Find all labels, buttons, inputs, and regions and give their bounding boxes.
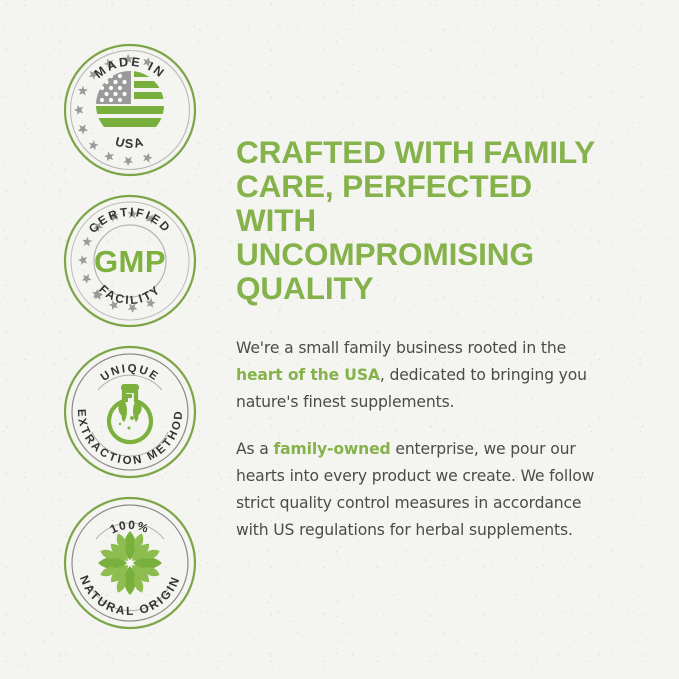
paragraph-2-before: As a xyxy=(236,440,274,458)
headline-line-4: QUALITY xyxy=(236,270,374,306)
headline-line-1: CRAFTED WITH FAMILY xyxy=(236,134,595,170)
paragraph-1-highlight: heart of the USA xyxy=(236,366,380,384)
badge-unique-extraction-method: UNIQUE EXTRACTION METHOD xyxy=(62,344,198,480)
paragraph-1-before: We're a small family business rooted in … xyxy=(236,339,566,357)
body-paragraph-2: As a family-owned enterprise, we pour ou… xyxy=(236,436,616,544)
product-info-panel: MADE IN USA xyxy=(0,0,679,679)
headline-line-3: UNCOMPROMISING xyxy=(236,236,534,272)
flask-leaf-icon xyxy=(109,384,151,442)
badge-bottom-label: EXTRACTION METHOD xyxy=(75,409,185,467)
badge-top-label: CERTIFIED xyxy=(86,205,174,236)
leaf-rosette-icon xyxy=(98,531,162,595)
usa-flag-icon xyxy=(95,70,166,127)
badge-gmp-certified-facility: GMP CERTIFIED FACILITY xyxy=(62,193,198,329)
trust-badge-column: MADE IN USA xyxy=(62,42,202,631)
content-column: CRAFTED WITH FAMILY CARE, PERFECTED WITH… xyxy=(236,135,616,544)
headline-line-2: CARE, PERFECTED WITH xyxy=(236,168,532,238)
page-headline: CRAFTED WITH FAMILY CARE, PERFECTED WITH… xyxy=(236,135,616,305)
paragraph-2-highlight: family-owned xyxy=(274,440,391,458)
badge-top-label: UNIQUE xyxy=(99,363,161,384)
badge-bottom-label: USA xyxy=(114,135,147,151)
body-paragraph-1: We're a small family business rooted in … xyxy=(236,335,616,416)
badge-made-in-usa: MADE IN USA xyxy=(62,42,198,178)
gmp-text-icon: GMP xyxy=(94,244,166,279)
badge-natural-origin: 100% NATURAL ORIGIN xyxy=(62,495,198,631)
